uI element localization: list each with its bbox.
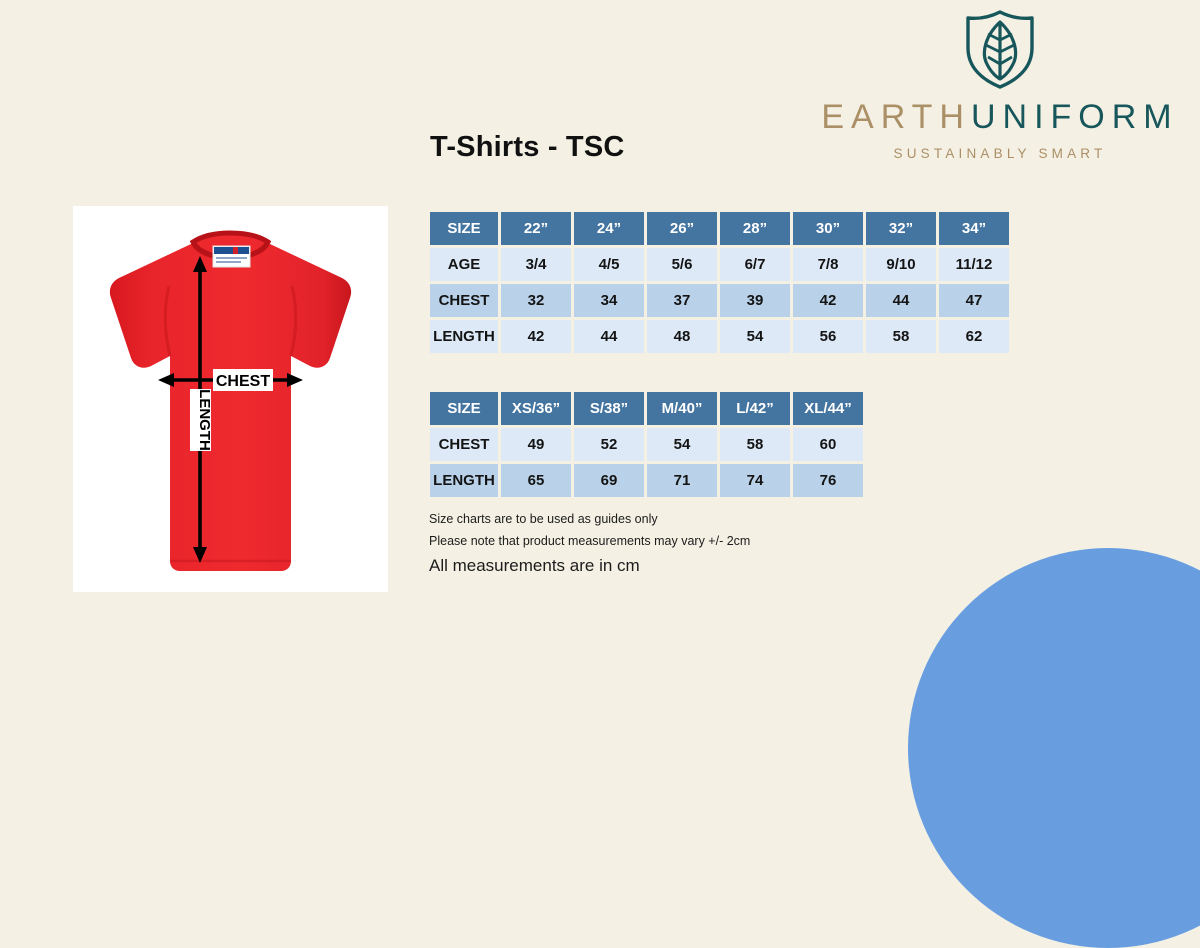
tshirt-illustration: CHEST LENGTH: [73, 206, 388, 592]
table1-row2-cell5: 58: [866, 320, 936, 353]
table1-row1-label: CHEST: [430, 284, 498, 317]
table1-row0-cell1: 4/5: [574, 248, 644, 281]
table1-col-7: 34”: [939, 212, 1009, 245]
table2-row0-cell0: 49: [501, 428, 571, 461]
table-row: CHEST 49 52 54 58 60: [430, 428, 863, 461]
table-row: AGE 3/4 4/5 5/6 6/7 7/8 9/10 11/12: [430, 248, 1009, 281]
table-row: CHEST 32 34 37 39 42 44 47: [430, 284, 1009, 317]
childrens-size-table: SIZE 22” 24” 26” 28” 30” 32” 34” AGE 3/4…: [427, 209, 1012, 356]
table-row: LENGTH 42 44 48 54 56 58 62: [430, 320, 1009, 353]
table1-row1-cell3: 39: [720, 284, 790, 317]
table1-row1-cell4: 42: [793, 284, 863, 317]
table2-col-0: SIZE: [430, 392, 498, 425]
table2-row1-label: LENGTH: [430, 464, 498, 497]
note-line-3: All measurements are in cm: [429, 553, 750, 579]
table-header-row: SIZE XS/36” S/38” M/40” L/42” XL/44”: [430, 392, 863, 425]
note-line-1: Size charts are to be used as guides onl…: [429, 508, 750, 530]
table1-col-5: 30”: [793, 212, 863, 245]
table2-row0-cell4: 60: [793, 428, 863, 461]
product-image-panel: CHEST LENGTH: [73, 206, 388, 592]
table1-row0-cell6: 11/12: [939, 248, 1009, 281]
table2-col-2: S/38”: [574, 392, 644, 425]
brand-logo: EARTHUNIFORM SUSTAINABLY SMART: [820, 8, 1180, 168]
adult-size-table: SIZE XS/36” S/38” M/40” L/42” XL/44” CHE…: [427, 389, 866, 500]
table1-row1-cell2: 37: [647, 284, 717, 317]
table1-row0-cell4: 7/8: [793, 248, 863, 281]
table1-row2-cell0: 42: [501, 320, 571, 353]
table2-row1-cell0: 65: [501, 464, 571, 497]
table2-row0-cell3: 58: [720, 428, 790, 461]
table1-row2-cell6: 62: [939, 320, 1009, 353]
table1-col-4: 28”: [720, 212, 790, 245]
table2-row0-cell2: 54: [647, 428, 717, 461]
length-arrow-label: LENGTH: [196, 389, 213, 451]
footer-notes: Size charts are to be used as guides onl…: [429, 508, 750, 579]
table2-col-5: XL/44”: [793, 392, 863, 425]
table1-row2-cell2: 48: [647, 320, 717, 353]
decorative-circle: [908, 548, 1200, 948]
brand-name-earth: EARTH: [821, 98, 971, 136]
table2-row0-cell1: 52: [574, 428, 644, 461]
table-header-row: SIZE 22” 24” 26” 28” 30” 32” 34”: [430, 212, 1009, 245]
table1-row1-cell5: 44: [866, 284, 936, 317]
table1-col-3: 26”: [647, 212, 717, 245]
table1-row0-cell0: 3/4: [501, 248, 571, 281]
table2-row1-cell4: 76: [793, 464, 863, 497]
table1-row2-cell1: 44: [574, 320, 644, 353]
table1-row2-cell4: 56: [793, 320, 863, 353]
page-title: T-Shirts - TSC: [430, 131, 625, 164]
table2-row1-cell2: 71: [647, 464, 717, 497]
neck-label: [213, 246, 250, 267]
brand-name-uniform: UNIFORM: [971, 98, 1179, 136]
table1-row1-cell6: 47: [939, 284, 1009, 317]
table-row: LENGTH 65 69 71 74 76: [430, 464, 863, 497]
table1-row1-cell0: 32: [501, 284, 571, 317]
table1-row0-cell3: 6/7: [720, 248, 790, 281]
table2-col-1: XS/36”: [501, 392, 571, 425]
table1-col-0: SIZE: [430, 212, 498, 245]
table2-row1-cell3: 74: [720, 464, 790, 497]
table1-row0-label: AGE: [430, 248, 498, 281]
table1-row1-cell1: 34: [574, 284, 644, 317]
table2-row1-cell1: 69: [574, 464, 644, 497]
table1-row2-cell3: 54: [720, 320, 790, 353]
size-chart-page: EARTHUNIFORM SUSTAINABLY SMART T-Shirts …: [0, 0, 1200, 708]
table2-col-3: M/40”: [647, 392, 717, 425]
table1-col-1: 22”: [501, 212, 571, 245]
table1-row0-cell2: 5/6: [647, 248, 717, 281]
brand-tagline: SUSTAINABLY SMART: [820, 146, 1180, 161]
brand-wordmark: EARTHUNIFORM: [820, 98, 1180, 137]
table1-row2-label: LENGTH: [430, 320, 498, 353]
shield-leaf-icon: [955, 8, 1045, 90]
chest-arrow-label: CHEST: [216, 373, 270, 390]
table1-col-2: 24”: [574, 212, 644, 245]
note-line-2: Please note that product measurements ma…: [429, 530, 750, 552]
table1-col-6: 32”: [866, 212, 936, 245]
table2-row0-label: CHEST: [430, 428, 498, 461]
table1-row0-cell5: 9/10: [866, 248, 936, 281]
table2-col-4: L/42”: [720, 392, 790, 425]
